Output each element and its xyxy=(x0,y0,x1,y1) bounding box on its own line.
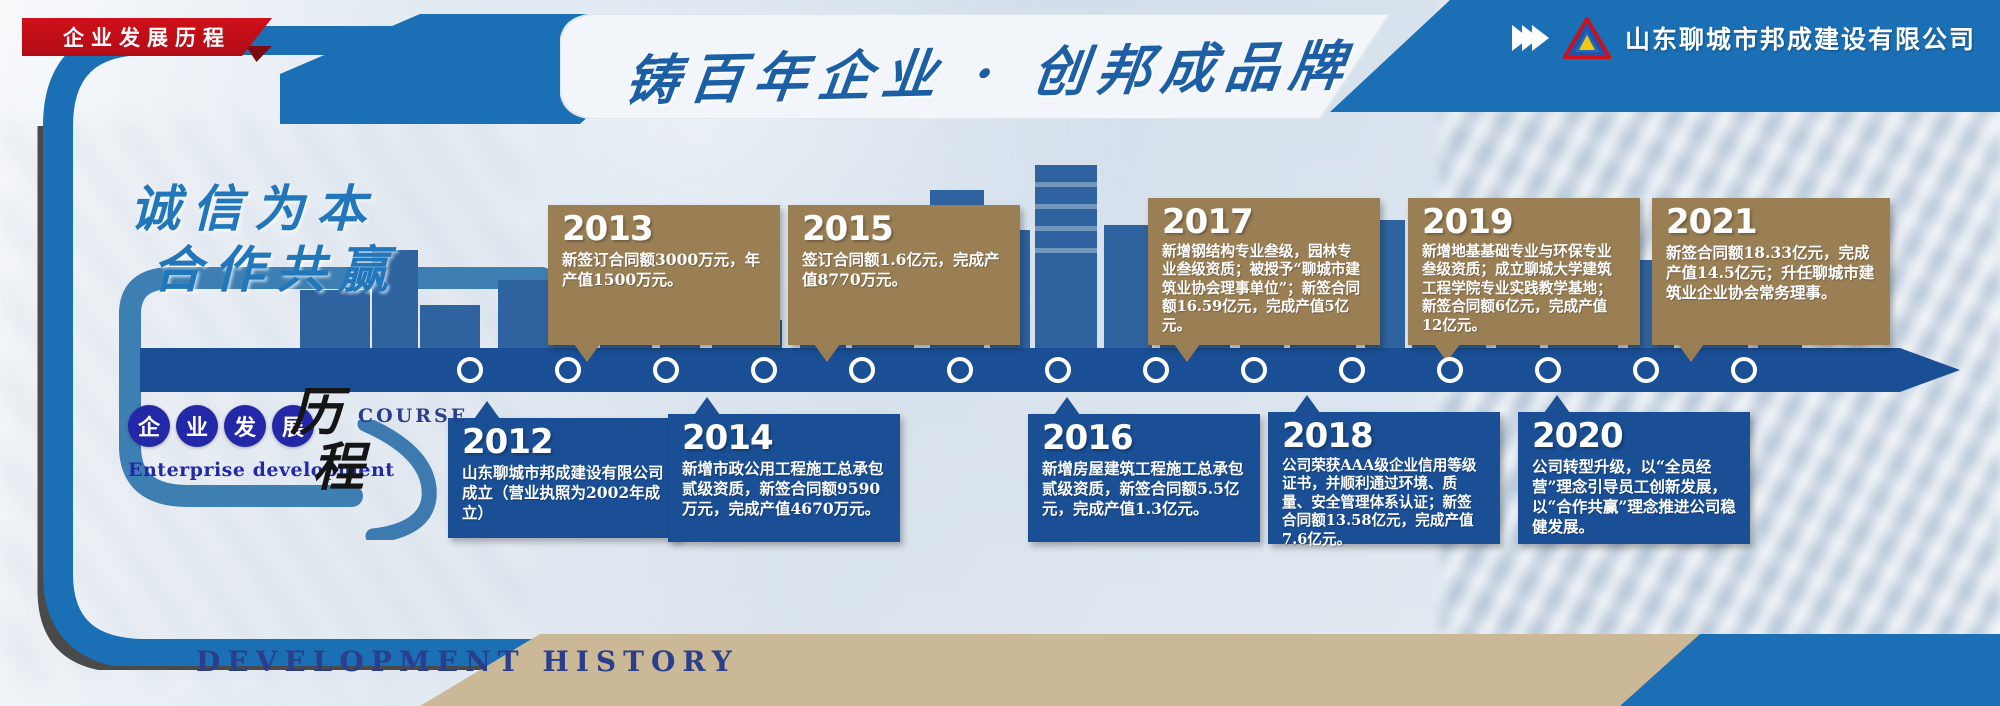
card-body-2021: 2021新签合同额18.33亿元，完成产值14.5亿元；升任聊城市建筑业企业协会… xyxy=(1652,198,1890,345)
card-year-2018: 2018 xyxy=(1282,420,1486,453)
card-text-2018: 公司荣获AAA级企业信用等级证书，并顺利通过环境、质量、安全管理体系认证；新签合… xyxy=(1282,457,1486,550)
card-year-2015: 2015 xyxy=(802,213,1006,246)
card-text-2021: 新签合同额18.33亿元，完成产值14.5亿元；升任聊城市建筑业企业协会常务理事… xyxy=(1666,243,1876,303)
card-body-2017: 2017新增钢结构专业叁级，园林专业叁级资质；被授予“聊城市建筑业协会理事单位”… xyxy=(1148,198,1380,345)
timeline-node-14 xyxy=(1731,357,1757,383)
timeline-node-11 xyxy=(1437,357,1463,383)
main-slogan-text: 铸百年企业 · 创邦成品牌 xyxy=(621,21,1359,115)
timeline-node-8 xyxy=(1143,357,1169,383)
card-pointer-2012 xyxy=(474,401,500,419)
motto-line-1: 诚信为本 xyxy=(130,178,400,239)
company-motto: 诚信为本 合作共赢 xyxy=(130,178,400,300)
card-year-2012: 2012 xyxy=(462,426,666,459)
card-year-2016: 2016 xyxy=(1042,422,1246,455)
brush-char-1: 历 xyxy=(290,382,342,443)
badge-pill-2: 业 xyxy=(176,405,218,447)
timeline-card-2015[interactable]: 2015签订合同额1.6亿元，完成产值8770万元。 xyxy=(788,205,1020,345)
timeline-card-2014[interactable]: 2014新增市政公用工程施工总承包贰级资质，新签合同额9590万元，完成产值46… xyxy=(668,414,900,542)
card-pointer-2013 xyxy=(574,344,600,362)
timeline-card-2016[interactable]: 2016新增房屋建筑工程施工总承包贰级资质，新签合同额5.5亿元，完成产值1.3… xyxy=(1028,414,1260,542)
timeline-node-7 xyxy=(1045,357,1071,383)
card-text-2016: 新增房屋建筑工程施工总承包贰级资质，新签合同额5.5亿元，完成产值1.3亿元。 xyxy=(1042,459,1246,519)
section-ribbon: 企业发展历程 xyxy=(22,18,272,56)
timeline-node-4 xyxy=(751,357,777,383)
card-text-2014: 新增市政公用工程施工总承包贰级资质，新签合同额9590万元，完成产值4670万元… xyxy=(682,459,886,519)
badge-pill-1: 企 xyxy=(128,405,170,447)
card-pointer-2018 xyxy=(1294,395,1320,413)
card-text-2013: 新签订合同额3000万元，年产值1500万元。 xyxy=(562,250,766,290)
timeline-node-5 xyxy=(849,357,875,383)
card-body-2018: 2018公司荣获AAA级企业信用等级证书，并顺利通过环境、质量、安全管理体系认证… xyxy=(1268,412,1500,544)
card-year-2021: 2021 xyxy=(1666,206,1876,239)
card-text-2020: 公司转型升级，以“全员经营”理念引导员工创新发展，以“合作共赢”理念推进公司稳健… xyxy=(1532,457,1736,538)
card-text-2019: 新增地基基础专业与环保专业叁级资质；成立聊城大学建筑工程学院专业实践教学基地；新… xyxy=(1422,243,1626,336)
card-body-2020: 2020公司转型升级，以“全员经营”理念引导员工创新发展，以“合作共赢”理念推进… xyxy=(1518,412,1750,544)
timeline-node-13 xyxy=(1633,357,1659,383)
card-body-2014: 2014新增市政公用工程施工总承包贰级资质，新签合同额9590万元，完成产值46… xyxy=(668,414,900,542)
card-pointer-2021 xyxy=(1678,344,1704,362)
timeline-card-2020[interactable]: 2020公司转型升级，以“全员经营”理念引导员工创新发展，以“合作共赢”理念推进… xyxy=(1518,412,1750,544)
brush-char-2: 程 xyxy=(312,443,364,492)
badge-pill-3: 发 xyxy=(224,405,266,447)
company-identity: 山东聊城市邦成建设有限公司 xyxy=(1519,16,1976,60)
card-year-2017: 2017 xyxy=(1162,206,1366,239)
card-pointer-2014 xyxy=(694,397,720,415)
badge-brush-characters: 历 程 xyxy=(290,388,364,493)
company-name: 山东聊城市邦成建设有限公司 xyxy=(1625,20,1976,56)
card-pointer-2017 xyxy=(1174,344,1200,362)
timeline-node-3 xyxy=(653,357,679,383)
card-pointer-2016 xyxy=(1054,397,1080,415)
timeline-card-2013[interactable]: 2013新签订合同额3000万元，年产值1500万元。 xyxy=(548,205,780,345)
card-text-2012: 山东聊城市邦成建设有限公司成立（营业执照为2002年成立） xyxy=(462,463,666,523)
main-slogan: 铸百年企业 · 创邦成品牌 xyxy=(630,22,1350,114)
card-text-2017: 新增钢结构专业叁级，园林专业叁级资质；被授予“聊城市建筑业协会理事单位”；新签合… xyxy=(1162,243,1366,336)
card-body-2016: 2016新增房屋建筑工程施工总承包贰级资质，新签合同额5.5亿元，完成产值1.3… xyxy=(1028,414,1260,542)
card-body-2015: 2015签订合同额1.6亿元，完成产值8770万元。 xyxy=(788,205,1020,345)
timeline-node-9 xyxy=(1241,357,1267,383)
timeline-card-2021[interactable]: 2021新签合同额18.33亿元，完成产值14.5亿元；升任聊城市建筑业企业协会… xyxy=(1652,198,1890,345)
card-year-2013: 2013 xyxy=(562,213,766,246)
footer-title: DEVELOPMENT HISTORY xyxy=(196,645,739,678)
card-pointer-2020 xyxy=(1544,395,1570,413)
card-year-2019: 2019 xyxy=(1422,206,1626,239)
card-year-2014: 2014 xyxy=(682,422,886,455)
course-label: COURSE xyxy=(358,405,468,427)
card-body-2019: 2019新增地基基础专业与环保专业叁级资质；成立聊城大学建筑工程学院专业实践教学… xyxy=(1408,198,1640,345)
motto-line-2: 合作共赢 xyxy=(152,239,400,300)
timeline-card-2019[interactable]: 2019新增地基基础专业与环保专业叁级资质；成立聊城大学建筑工程学院专业实践教学… xyxy=(1408,198,1640,345)
timeline-card-2018[interactable]: 2018公司荣获AAA级企业信用等级证书，并顺利通过环境、质量、安全管理体系认证… xyxy=(1268,412,1500,544)
section-ribbon-label: 企业发展历程 xyxy=(63,22,231,52)
triangle-logo-icon xyxy=(1563,17,1611,59)
timeline-node-12 xyxy=(1535,357,1561,383)
double-chevron-right-icon xyxy=(1519,25,1549,51)
timeline-node-10 xyxy=(1339,357,1365,383)
card-pointer-2015 xyxy=(814,344,840,362)
card-text-2015: 签订合同额1.6亿元，完成产值8770万元。 xyxy=(802,250,1006,290)
timeline-card-2017[interactable]: 2017新增钢结构专业叁级，园林专业叁级资质；被授予“聊城市建筑业协会理事单位”… xyxy=(1148,198,1380,345)
card-body-2013: 2013新签订合同额3000万元，年产值1500万元。 xyxy=(548,205,780,345)
card-year-2020: 2020 xyxy=(1532,420,1736,453)
timeline-node-1 xyxy=(457,357,483,383)
infographic-canvas: 铸百年企业 · 创邦成品牌 山东聊城市邦成建设有限公司 企业发展历程 诚信为本 … xyxy=(0,0,2000,706)
timeline-node-2 xyxy=(555,357,581,383)
timeline-node-6 xyxy=(947,357,973,383)
